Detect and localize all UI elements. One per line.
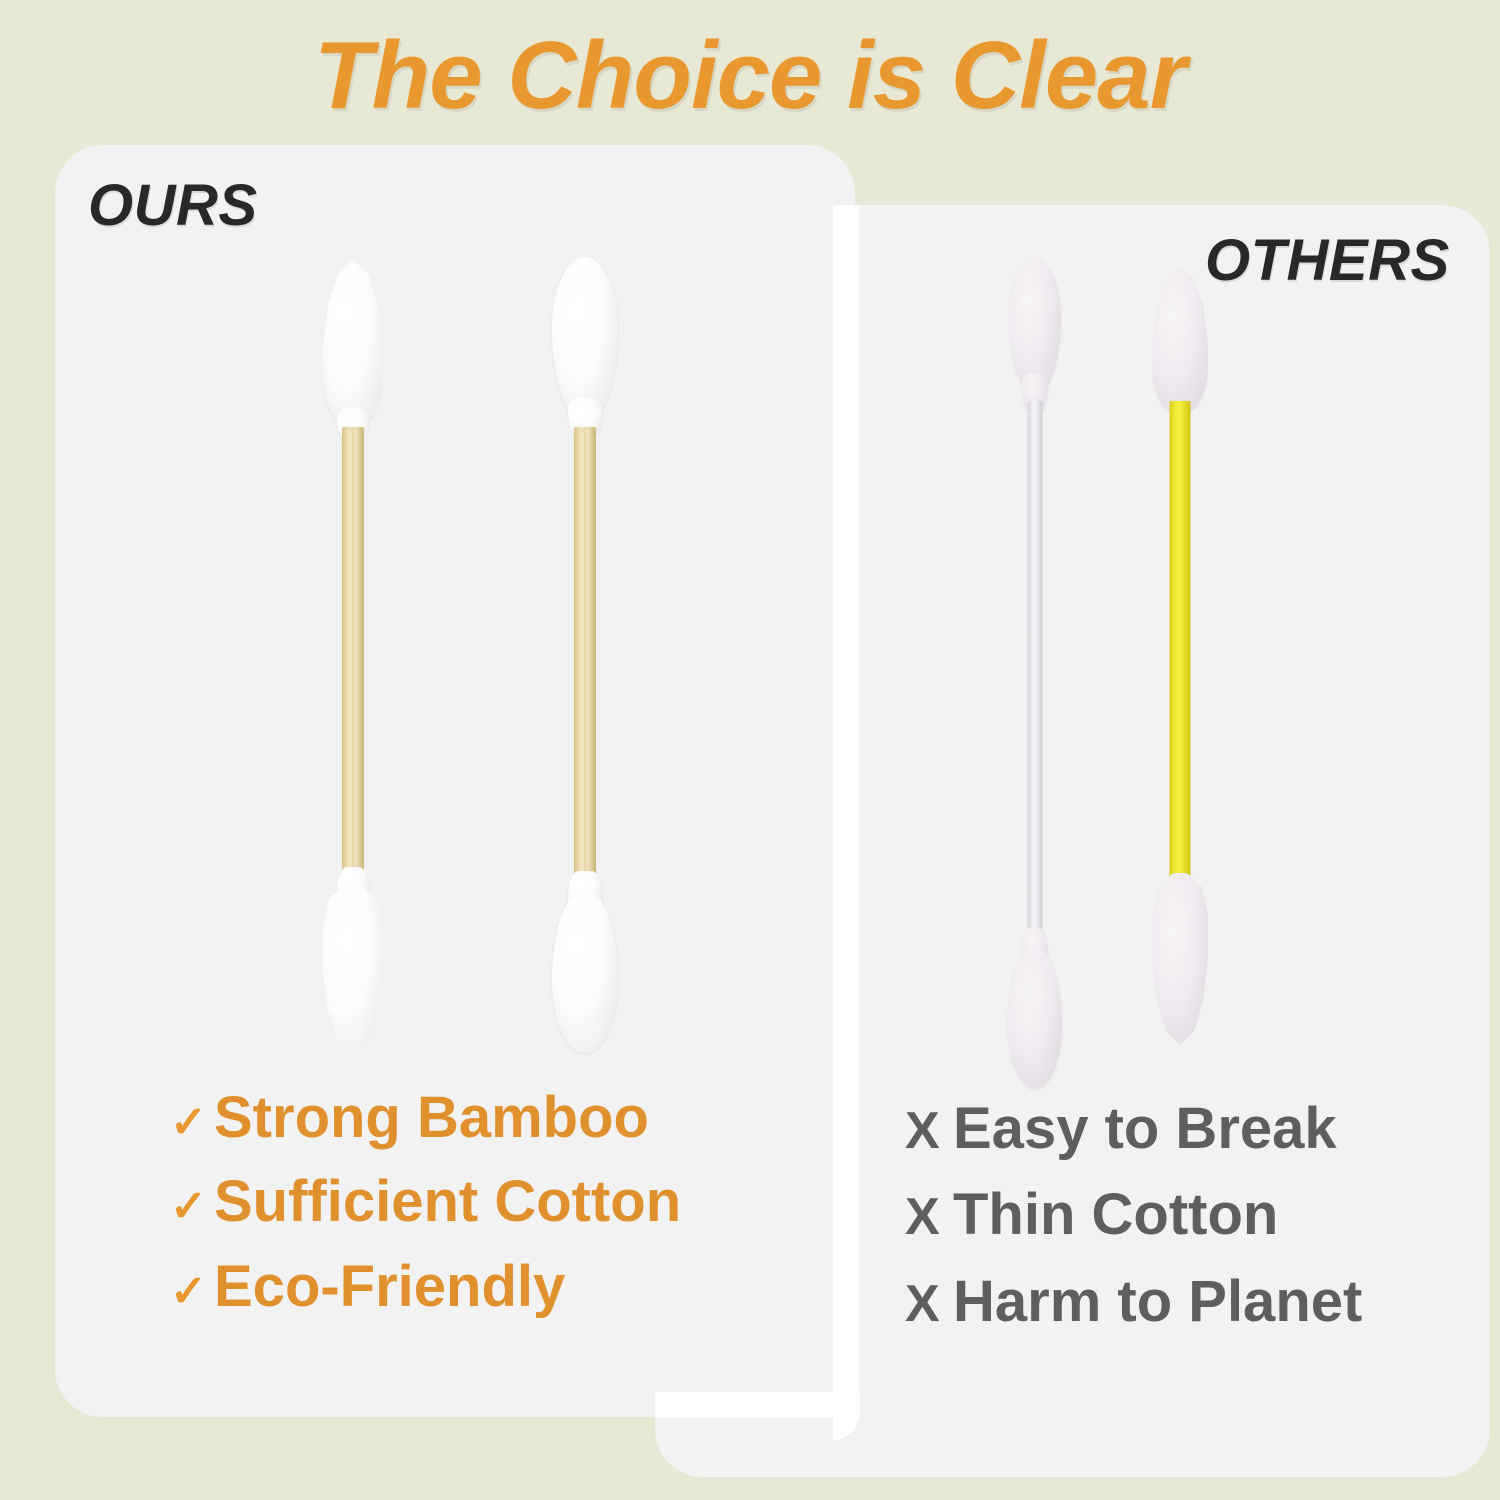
feature-row: ✓ Eco-Friendly [170,1253,681,1321]
cross-icon: X [905,1105,953,1157]
feature-label: Strong Bamboo [214,1084,649,1152]
feature-label: Easy to Break [953,1095,1337,1163]
swab-bamboo-pointed [293,145,413,1065]
cotton-tip-top [552,257,618,419]
bamboo-stick [342,427,364,897]
plastic-stick-white [1028,401,1043,961]
feature-row: X Thin Cotton [905,1181,1362,1249]
cotton-tip-top [322,260,384,428]
cross-icon: X [905,1191,953,1243]
swab-bamboo-rounded [525,145,645,1065]
feature-label: Sufficient Cotton [214,1168,681,1236]
cotton-tip-bottom [322,887,384,1055]
cross-icon: X [905,1278,953,1330]
feature-row: X Harm to Planet [905,1268,1362,1336]
check-icon: ✓ [170,1185,214,1229]
synthetic-tip-top [1151,267,1209,415]
swab-plastic-yellow [1125,205,1235,1105]
synthetic-tip-bottom [1008,947,1062,1089]
feature-label: Harm to Planet [953,1268,1362,1336]
feature-row: X Easy to Break [905,1095,1362,1163]
check-icon: ✓ [170,1101,214,1145]
product-image-others [655,205,1490,1105]
plastic-stick-yellow [1170,401,1191,891]
page-title: The Choice is Clear [0,26,1500,127]
swab-plastic-white [985,205,1085,1105]
feature-list-others: X Easy to Break X Thin Cotton X Harm to … [905,1095,1362,1354]
check-icon: ✓ [170,1270,214,1314]
bamboo-stick [574,427,596,899]
cotton-tip-bottom [552,891,618,1053]
feature-row: ✓ Sufficient Cotton [170,1168,681,1236]
synthetic-tip-bottom [1151,877,1209,1045]
card-divider-horizontal [655,1392,860,1418]
card-label-ours: OURS [88,172,258,239]
feature-row: ✓ Strong Bamboo [170,1084,681,1152]
feature-label: Thin Cotton [953,1181,1278,1249]
card-label-others: OTHERS [1205,227,1450,294]
feature-label: Eco-Friendly [214,1253,565,1321]
feature-list-ours: ✓ Strong Bamboo ✓ Sufficient Cotton ✓ Ec… [170,1084,681,1337]
